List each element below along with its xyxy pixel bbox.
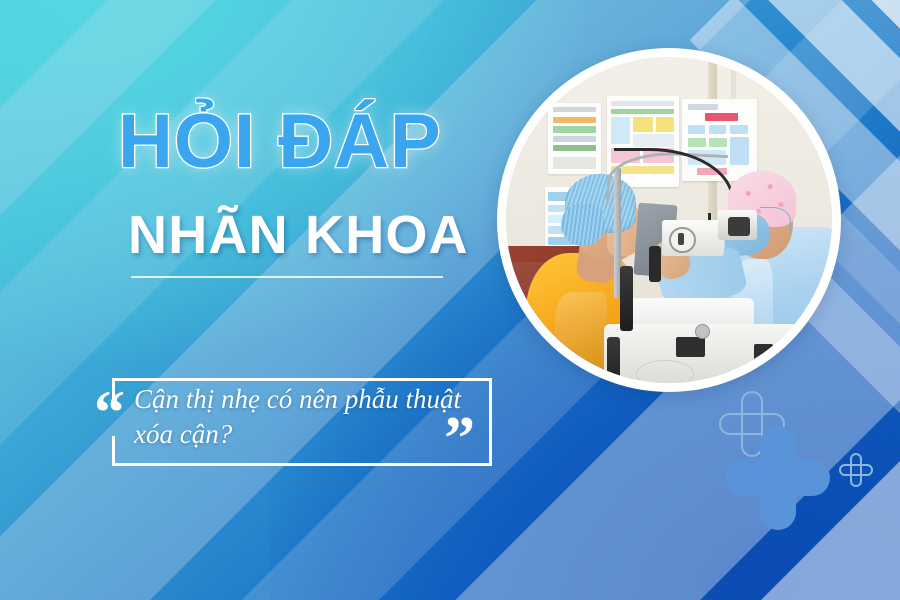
plus-seam-mask-horizontal [849, 466, 863, 474]
slit-lamp-rod-2 [607, 337, 620, 383]
slit-lamp-rod-1 [620, 266, 633, 331]
wall-poster-1 [548, 103, 600, 175]
headline-primary: HỎI ĐÁP [118, 104, 442, 180]
quote-close-mark: ” [444, 408, 472, 470]
plus-solid-large-icon [726, 426, 830, 530]
headline-divider [131, 276, 443, 278]
slit-lamp-block-1 [676, 337, 705, 357]
slit-lamp-eyepiece [728, 217, 751, 237]
slit-lamp-block-2 [754, 344, 774, 360]
slit-lamp-dial [669, 227, 696, 254]
clinic-photo [506, 57, 832, 383]
quote-open-mark: “ [94, 382, 122, 444]
quote-frame-top [112, 378, 492, 381]
quote-frame-bottom [112, 463, 492, 466]
patient-gown-fold [555, 292, 607, 383]
headline-secondary: NHÃN KHOA [128, 208, 469, 262]
patient-cap-back [561, 204, 603, 246]
plus-outline-small-icon [839, 453, 873, 487]
plus-bar-horizontal [726, 460, 830, 496]
eye-care-qa-banner: HỎI ĐÁP NHÃN KHOA “ Cận thị nhẹ có nên p… [0, 0, 900, 600]
slit-lamp-tray [636, 360, 693, 383]
slit-lamp-rod-3 [649, 246, 660, 282]
photo-circle [497, 48, 841, 392]
doctor-mask-strap [760, 207, 790, 231]
